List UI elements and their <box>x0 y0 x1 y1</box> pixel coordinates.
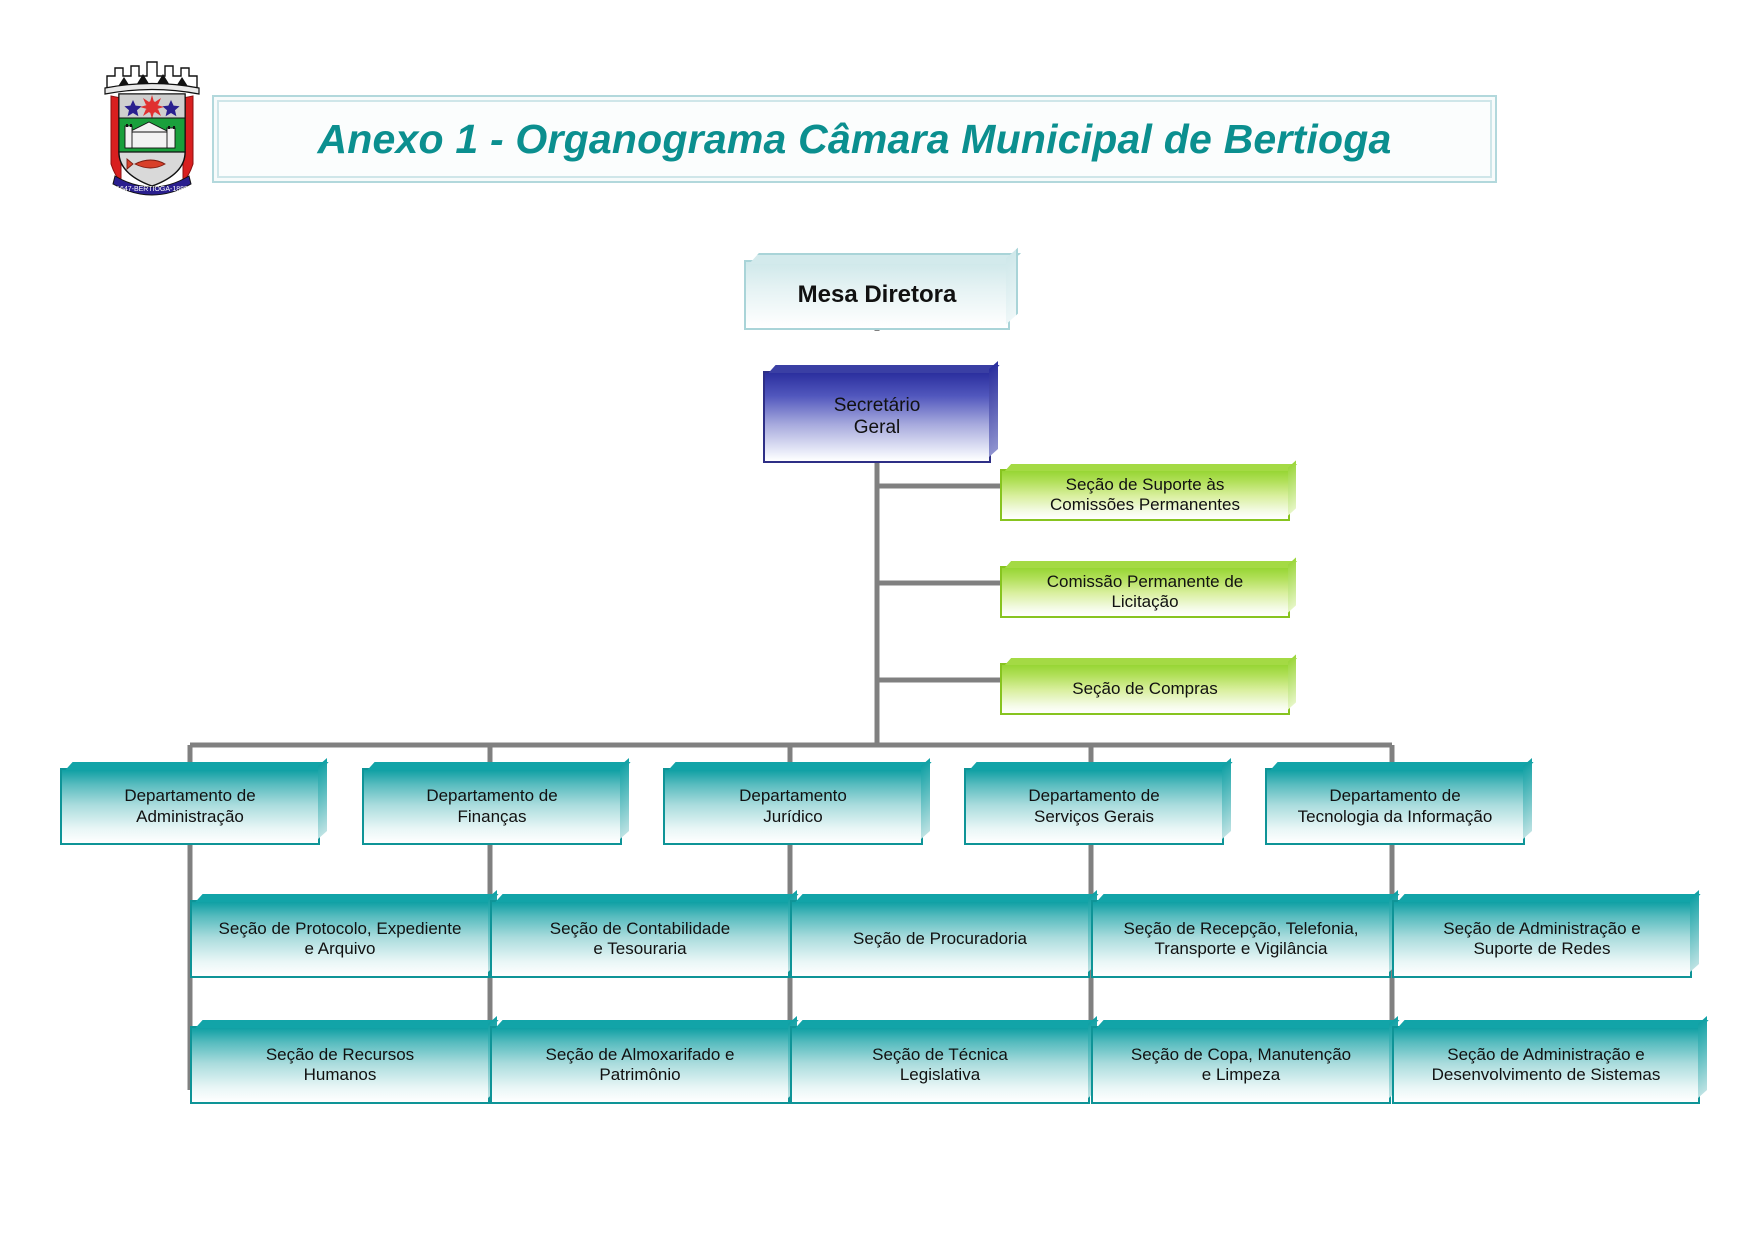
node-secao-almoxarifado-patrimonio[interactable]: Seção de Almoxarifado e Patrimônio <box>490 1026 790 1104</box>
node-label: Mesa Diretora <box>746 281 1008 309</box>
node-departamento-tecnologia-informacao[interactable]: Departamento de Tecnologia da Informação <box>1265 768 1525 845</box>
node-secretario-geral[interactable]: Secretário Geral <box>763 371 991 463</box>
node-secao-copa-manutencao-limpeza[interactable]: Seção de Copa, Manutenção e Limpeza <box>1091 1026 1391 1104</box>
node-secao-suporte-comissoes[interactable]: Seção de Suporte às Comissões Permanente… <box>1000 469 1290 521</box>
node-secao-tecnica-legislativa[interactable]: Seção de Técnica Legislativa <box>790 1026 1090 1104</box>
node-label: Departamento de Administração <box>62 786 318 826</box>
node-label: Seção de Protocolo, Expediente e Arquivo <box>192 919 488 959</box>
node-secao-recepcao-telefonia-transporte-vigilancia[interactable]: Seção de Recepção, Telefonia, Transporte… <box>1091 900 1391 978</box>
node-label: Seção de Suporte às Comissões Permanente… <box>1002 475 1288 515</box>
node-label: Secretário Geral <box>765 395 989 440</box>
node-secao-administracao-suporte-redes[interactable]: Seção de Administração e Suporte de Rede… <box>1392 900 1692 978</box>
node-label: Seção de Compras <box>1002 679 1288 699</box>
node-label: Seção de Contabilidade e Tesouraria <box>492 919 788 959</box>
node-secao-protocolo-expediente-arquivo[interactable]: Seção de Protocolo, Expediente e Arquivo <box>190 900 490 978</box>
organogram-chart: Mesa Diretora Secretário Geral Seção de … <box>0 0 1754 1240</box>
node-departamento-financas[interactable]: Departamento de Finanças <box>362 768 622 845</box>
node-departamento-servicos-gerais[interactable]: Departamento de Serviços Gerais <box>964 768 1224 845</box>
node-mesa-diretora[interactable]: Mesa Diretora <box>744 260 1010 330</box>
node-label: Seção de Copa, Manutenção e Limpeza <box>1093 1045 1389 1085</box>
node-label: Departamento de Serviços Gerais <box>966 786 1222 826</box>
node-label: Seção de Recursos Humanos <box>192 1045 488 1085</box>
node-label: Seção de Almoxarifado e Patrimônio <box>492 1045 788 1085</box>
node-label: Departamento de Tecnologia da Informação <box>1267 786 1523 826</box>
node-label: Comissão Permanente de Licitação <box>1002 572 1288 612</box>
node-secao-procuradoria[interactable]: Seção de Procuradoria <box>790 900 1090 978</box>
node-secao-compras[interactable]: Seção de Compras <box>1000 663 1290 715</box>
node-label: Seção de Administração e Suporte de Rede… <box>1394 919 1690 959</box>
node-secao-recursos-humanos[interactable]: Seção de Recursos Humanos <box>190 1026 490 1104</box>
node-comissao-permanente-licitacao[interactable]: Comissão Permanente de Licitação <box>1000 566 1290 618</box>
node-label: Seção de Administração e Desenvolvimento… <box>1394 1045 1698 1085</box>
node-label: Seção de Recepção, Telefonia, Transporte… <box>1093 919 1389 959</box>
node-secao-contabilidade-tesouraria[interactable]: Seção de Contabilidade e Tesouraria <box>490 900 790 978</box>
node-label: Seção de Técnica Legislativa <box>792 1045 1088 1085</box>
node-label: Departamento de Finanças <box>364 786 620 826</box>
organogram-page: 1647-BERTIOGA-1889 Anexo 1 - Organograma… <box>0 0 1754 1240</box>
node-label: Departamento Jurídico <box>665 786 921 826</box>
node-label: Seção de Procuradoria <box>792 929 1088 949</box>
node-departamento-administracao[interactable]: Departamento de Administração <box>60 768 320 845</box>
node-secao-administracao-desenvolvimento-sistemas[interactable]: Seção de Administração e Desenvolvimento… <box>1392 1026 1700 1104</box>
node-departamento-juridico[interactable]: Departamento Jurídico <box>663 768 923 845</box>
